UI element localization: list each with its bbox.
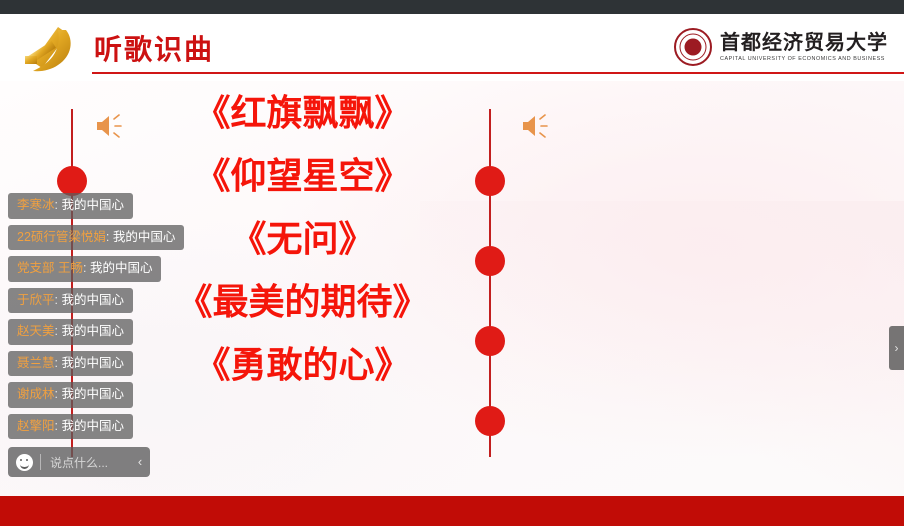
- university-name-en: CAPITAL UNIVERSITY OF ECONOMICS AND BUSI…: [720, 56, 888, 62]
- university-name-cn: 首都经济贸易大学: [720, 33, 888, 54]
- chat-message: 22硕行管梁悦娟: 我的中国心: [8, 225, 184, 251]
- song-list: 《红旗飘飘》 《仰望星空》 《无问》 《最美的期待》 《勇敢的心》: [160, 95, 445, 410]
- footer-band: [0, 496, 904, 526]
- chat-message: 聂兰慧: 我的中国心: [8, 351, 133, 377]
- chat-text: 我的中国心: [61, 324, 124, 338]
- speaker-sound-icon[interactable]: [94, 113, 124, 139]
- timeline-right: [489, 109, 491, 457]
- chat-message: 谢成林: 我的中国心: [8, 382, 133, 408]
- app-screen: 听歌识曲 首都经济贸易大学 CAPITAL UNIVERSITY OF ECON…: [0, 0, 904, 526]
- university-names: 首都经济贸易大学 CAPITAL UNIVERSITY OF ECONOMICS…: [720, 33, 888, 62]
- song-title[interactable]: 《最美的期待》: [160, 284, 445, 320]
- chat-separator: :: [83, 261, 90, 275]
- header-divider: [92, 72, 904, 74]
- window-top-bar: [0, 0, 904, 14]
- chat-sender: 22硕行管梁悦娟: [17, 230, 106, 244]
- chat-message: 于欣平: 我的中国心: [8, 288, 133, 314]
- main-stage: 《红旗飘飘》 《仰望星空》 《无问》 《最美的期待》 《勇敢的心》 李寒冰: 我…: [0, 81, 904, 496]
- timeline-dot: [475, 406, 505, 436]
- chat-text: 我的中国心: [90, 261, 153, 275]
- page-title: 听歌识曲: [94, 28, 214, 68]
- chevron-right-icon: ›: [895, 341, 899, 355]
- speaker-sound-icon[interactable]: [520, 113, 550, 139]
- timeline-dot: [475, 326, 505, 356]
- chat-sender: 赵天美: [17, 324, 55, 338]
- chat-message: 李寒冰: 我的中国心: [8, 193, 133, 219]
- chat-text: 我的中国心: [61, 198, 124, 212]
- page-header: 听歌识曲 首都经济贸易大学 CAPITAL UNIVERSITY OF ECON…: [0, 14, 904, 81]
- chat-sender: 党支部 王畅: [17, 261, 83, 275]
- chat-text: 我的中国心: [61, 387, 124, 401]
- chat-sender: 聂兰慧: [17, 356, 55, 370]
- chat-sender: 于欣平: [17, 293, 55, 307]
- chat-text: 我的中国心: [61, 419, 124, 433]
- chat-message: 赵天美: 我的中国心: [8, 319, 133, 345]
- song-title[interactable]: 《无问》: [160, 221, 445, 257]
- song-title[interactable]: 《仰望星空》: [160, 158, 445, 194]
- chat-input-bar[interactable]: 说点什么... ‹: [8, 447, 150, 477]
- timeline-dot: [475, 166, 505, 196]
- university-logo: 首都经济贸易大学 CAPITAL UNIVERSITY OF ECONOMICS…: [674, 28, 888, 66]
- chat-input[interactable]: 说点什么...: [41, 454, 130, 471]
- song-title[interactable]: 《红旗飘飘》: [160, 95, 445, 131]
- smiley-face-icon[interactable]: [8, 454, 40, 471]
- chat-sender: 谢成林: [17, 387, 55, 401]
- timeline-dot: [57, 166, 87, 196]
- panel-toggle-button[interactable]: ›: [889, 326, 904, 370]
- party-hammer-sickle-emblem: [14, 20, 82, 80]
- chat-overlay: 李寒冰: 我的中国心 22硕行管梁悦娟: 我的中国心 党支部 王畅: 我的中国心…: [8, 193, 198, 477]
- chat-message: 党支部 王畅: 我的中国心: [8, 256, 161, 282]
- timeline-dot: [475, 246, 505, 276]
- chat-text: 我的中国心: [61, 293, 124, 307]
- chat-text: 我的中国心: [113, 230, 176, 244]
- chat-sender: 李寒冰: [17, 198, 55, 212]
- song-title[interactable]: 《勇敢的心》: [160, 347, 445, 383]
- chat-message: 赵擎阳: 我的中国心: [8, 414, 133, 440]
- chat-separator: :: [106, 230, 113, 244]
- university-seal-icon: [674, 28, 712, 66]
- chevron-left-icon[interactable]: ‹: [130, 447, 150, 477]
- chat-sender: 赵擎阳: [17, 419, 55, 433]
- chat-text: 我的中国心: [61, 356, 124, 370]
